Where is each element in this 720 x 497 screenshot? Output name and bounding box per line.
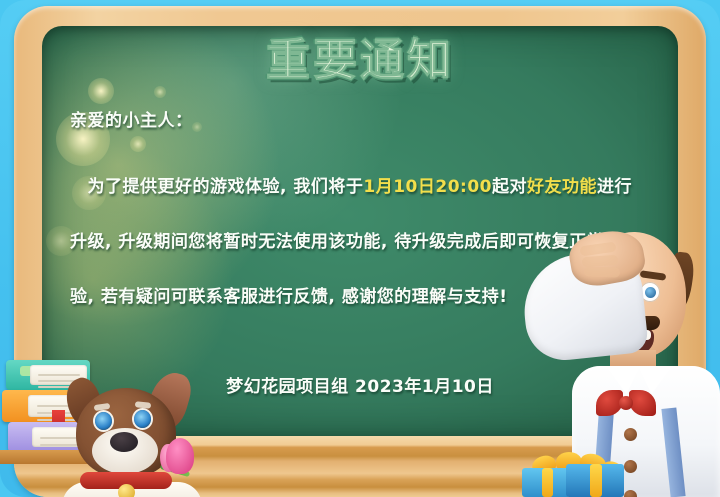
sparkle-glow [192,122,202,132]
greeting-text: 亲爱的小主人： [70,106,193,131]
gift-ribbon [590,464,602,497]
sparkle-glow [130,136,146,152]
bow-tie [596,390,656,416]
gift-boxes [516,452,646,497]
gift-ribbon [542,468,553,497]
collar-bell [118,484,135,497]
highlight-datetime: 1月10日20:00 [363,177,492,197]
dog-with-tulip [62,372,192,497]
finger [584,266,620,277]
dog-eye-left [95,412,112,430]
notice-title: 重要通知 [0,24,720,88]
dog-nose [110,432,138,452]
dog-eye-right [134,410,151,428]
bow-tie-knot [619,396,633,410]
tulip-flower [158,438,198,494]
highlight-feature: 好友功能 [527,177,597,197]
shirt-button [624,428,637,441]
bow-tie-right [629,390,656,416]
body-segment-2: 起对 [492,177,527,197]
tulip-bloom [166,438,194,474]
body-segment-1: 为了提供更好的游戏体验, 我们将于 [70,177,363,197]
announcement-popup: 重要通知 亲爱的小主人： 为了提供更好的游戏体验, 我们将于1月10日20:00… [0,0,720,497]
